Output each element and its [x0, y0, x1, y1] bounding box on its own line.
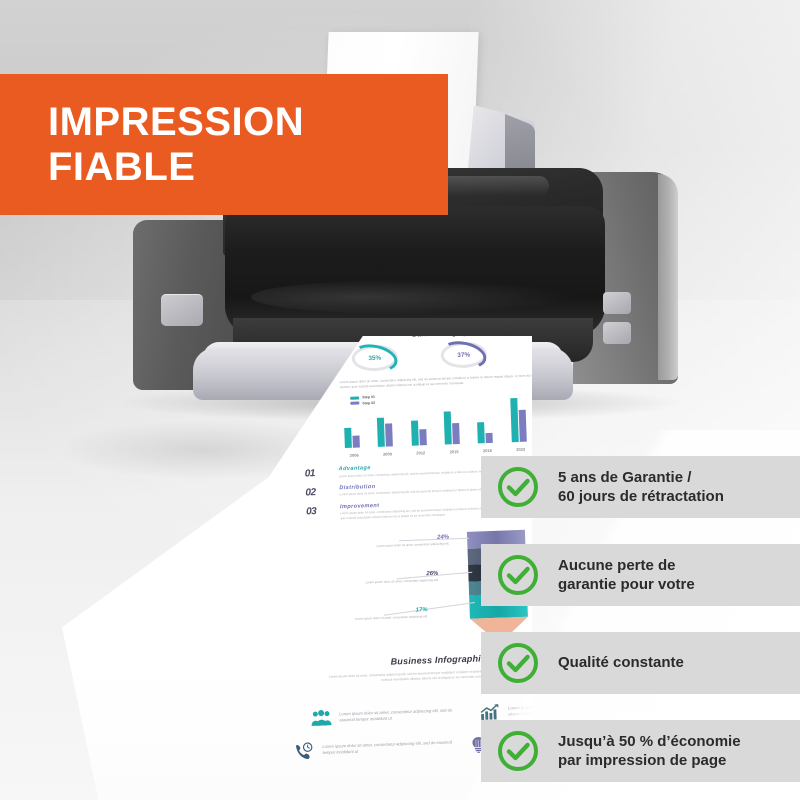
check-circle-icon: [496, 553, 540, 597]
people-group-icon: [311, 709, 332, 728]
printer-power-button[interactable]: [161, 294, 203, 326]
feature-line-1: 5 ans de Garantie /: [558, 469, 691, 486]
step-number: 01: [305, 468, 316, 479]
feature-label: 5 ans de Garantie / 60 jours de rétracta…: [558, 468, 724, 506]
feature-line-2: 60 jours de rétractation: [558, 487, 724, 506]
donut-chart-2: 37%: [440, 341, 487, 369]
headline-text: IMPRESSION FIABLE: [0, 100, 304, 190]
printer-side-button-2[interactable]: [603, 322, 631, 344]
feature-line-1: Aucune perte de: [558, 557, 676, 574]
printer-side-button-1[interactable]: [603, 292, 631, 314]
feature-row-quality[interactable]: Qualité constante: [481, 632, 800, 694]
check-circle-icon: [496, 465, 540, 509]
feature-label: Jusqu’à 50 % d’économie par impression d…: [558, 732, 741, 770]
promo-image-canvas: Banner Infographics 35% 37% Lorem ipsum …: [0, 0, 800, 800]
step-number: 02: [305, 487, 316, 498]
feature-line-1: Jusqu’à 50 % d’économie: [558, 733, 741, 750]
headline-banner: IMPRESSION FIABLE: [0, 74, 448, 215]
headline-line-1: IMPRESSION: [48, 100, 304, 144]
check-circle-icon: [496, 641, 540, 685]
feature-list: 5 ans de Garantie / 60 jours de rétracta…: [481, 456, 800, 782]
infographic-intro-paragraph: Lorem ipsum dolor sit amet, consectetur …: [340, 373, 532, 390]
donut-value-2: 37%: [440, 341, 487, 369]
printer-right-edge: [658, 174, 678, 380]
feature-row-no-warranty-loss[interactable]: Aucune perte de garantie pour votre: [481, 544, 800, 606]
feature-row-warranty[interactable]: 5 ans de Garantie / 60 jours de rétracta…: [481, 456, 800, 518]
phone-clock-icon: [294, 741, 315, 760]
printer-roller-highlight: [251, 280, 571, 314]
donut-chart-1: 35%: [351, 344, 398, 372]
feature-label: Aucune perte de garantie pour votre: [558, 556, 695, 594]
step-number: 03: [306, 506, 317, 517]
infographic-title: Banner Infographics: [362, 336, 532, 340]
feature-label: Qualité constante: [558, 653, 684, 672]
check-circle-icon: [496, 729, 540, 773]
feature-row-savings[interactable]: Jusqu’à 50 % d’économie par impression d…: [481, 720, 800, 782]
printer-roller-housing: [225, 206, 605, 336]
donut-value-1: 35%: [351, 344, 398, 372]
headline-line-2: FIABLE: [48, 145, 304, 190]
feature-line-2: par impression de page: [558, 751, 741, 770]
feature-line-1: Qualité constante: [558, 654, 684, 671]
feature-line-2: garantie pour votre: [558, 575, 695, 594]
